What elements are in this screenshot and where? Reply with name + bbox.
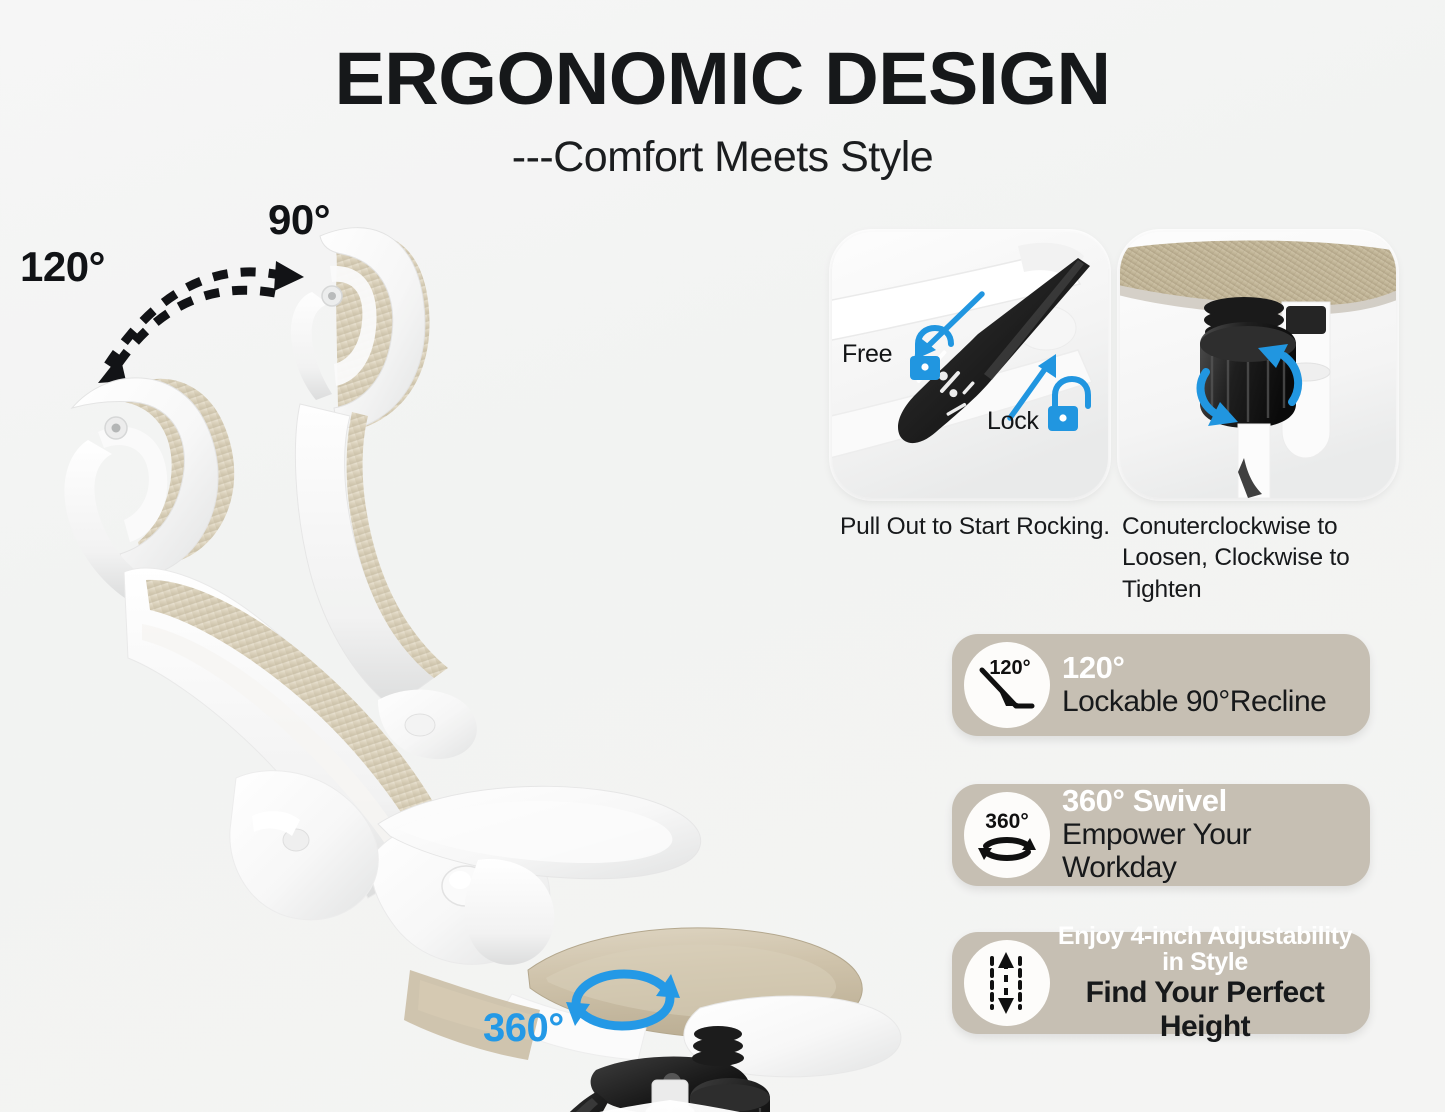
feature-card-recline-title: 120° bbox=[1062, 652, 1358, 685]
feature-card-height-text: Enjoy 4-inch Adjustability in Style Find… bbox=[1050, 923, 1370, 1043]
feature-card-swivel-text: 360° Swivel Empower Your Workday bbox=[1050, 785, 1370, 885]
page-subtitle: ---Comfort Meets Style bbox=[0, 116, 1445, 179]
feature-card-height-desc: Find Your Perfect Height bbox=[1054, 976, 1356, 1043]
feature-card-recline-desc: Lockable 90°Recline bbox=[1062, 685, 1358, 719]
svg-text:120°: 120° bbox=[989, 657, 1030, 679]
caption-free-lock: Pull Out to Start Rocking. bbox=[840, 511, 1110, 542]
feature-card-height[interactable]: Enjoy 4-inch Adjustability in Style Find… bbox=[952, 932, 1370, 1034]
recline-angle-icon: 120° bbox=[964, 642, 1050, 728]
callout-tension-knob bbox=[1120, 232, 1396, 498]
feature-card-recline-text: 120° Lockable 90°Recline bbox=[1050, 652, 1370, 718]
caption-tension-knob: Conuterclockwise to Loosen, Clockwise to… bbox=[1122, 511, 1422, 605]
height-adjust-icon bbox=[964, 940, 1050, 1026]
swivel-360-label: 360° bbox=[483, 1006, 564, 1051]
feature-card-swivel-desc: Empower Your Workday bbox=[1062, 818, 1358, 885]
swivel-rotation-arrows-icon bbox=[558, 964, 688, 1034]
feature-card-swivel[interactable]: 360° 360° Swivel Empower Your Workday bbox=[952, 784, 1370, 886]
feature-card-height-title: Enjoy 4-inch Adjustability in Style bbox=[1054, 923, 1356, 976]
tension-knob-photo bbox=[1120, 232, 1396, 498]
svg-text:360°: 360° bbox=[985, 810, 1028, 833]
page-title: ERGONOMIC DESIGN bbox=[0, 0, 1445, 116]
feature-card-recline[interactable]: 120° 120° Lockable 90°Recline bbox=[952, 634, 1370, 736]
swivel-rotation-icon: 360° bbox=[964, 792, 1050, 878]
feature-card-swivel-title: 360° Swivel bbox=[1062, 785, 1358, 818]
lock-label: Lock bbox=[987, 407, 1039, 436]
callout-free-lock: Free Lock bbox=[832, 232, 1108, 498]
header: ERGONOMIC DESIGN ---Comfort Meets Style bbox=[0, 0, 1445, 180]
free-label: Free bbox=[842, 340, 892, 369]
office-chair-illustration bbox=[0, 180, 920, 1112]
